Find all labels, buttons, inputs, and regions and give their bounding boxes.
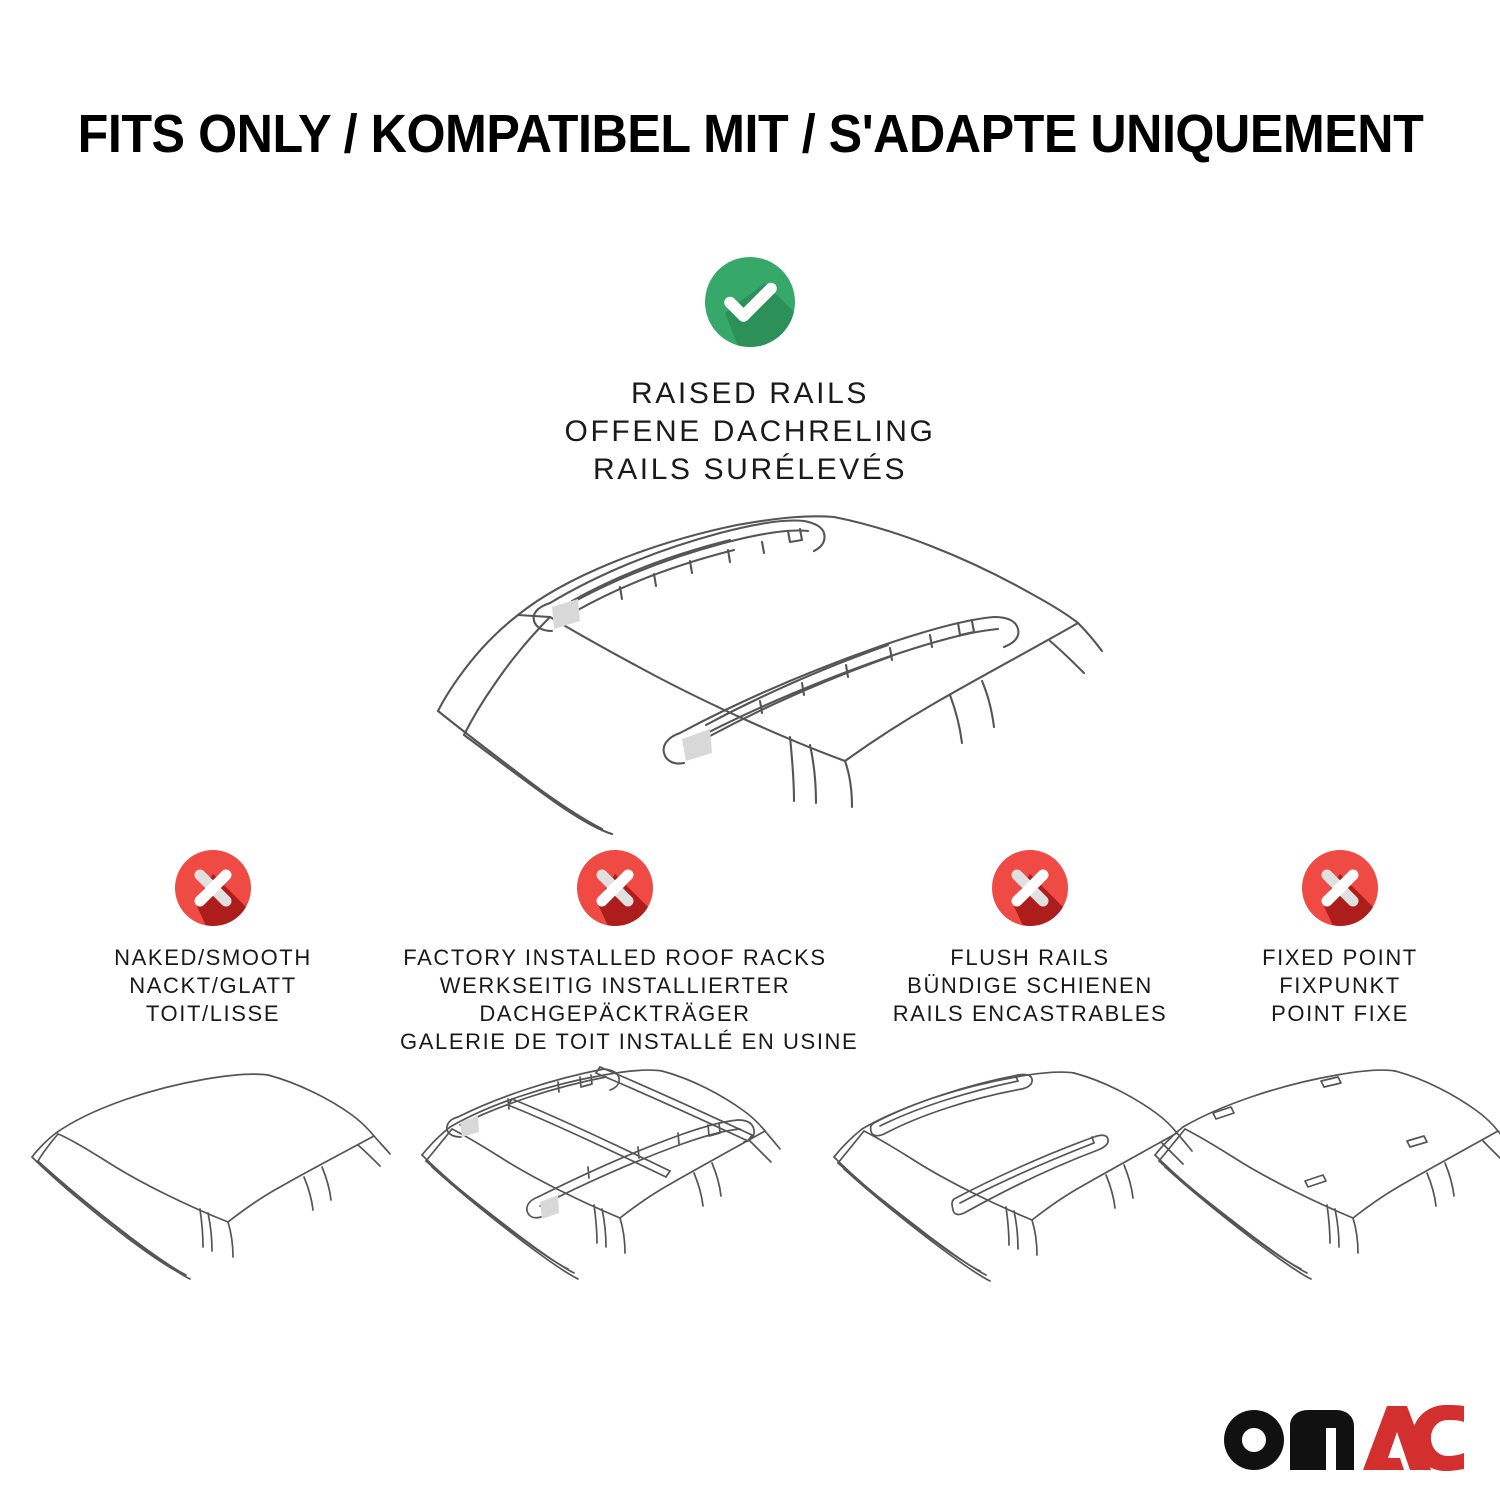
compatible-labels: RAISED RAILS OFFENE DACHRELING RAILS SUR… xyxy=(0,375,1500,489)
incompatible-label-en: FACTORY INSTALLED ROOF RACKS xyxy=(400,944,830,972)
car-roof-raised-rails-illustration xyxy=(390,495,1110,835)
compatible-label-fr: RAILS SURÉLEVÉS xyxy=(0,451,1500,489)
incompatible-label-fr: POINT FIXE xyxy=(1200,1000,1480,1028)
incompatible-section: NAKED/SMOOTH NACKT/GLATT TOIT/LISSE FACT… xyxy=(0,848,1500,1068)
car-roof-factory-roof-rack-illustration xyxy=(408,1055,788,1285)
omac-logo-letter-m xyxy=(1290,1410,1354,1470)
omac-logo xyxy=(1218,1404,1464,1476)
compatible-label-de: OFFENE DACHRELING xyxy=(0,413,1500,451)
car-roof-naked-smooth-illustration xyxy=(30,1055,400,1285)
omac-logo-letter-o xyxy=(1224,1410,1284,1470)
incompatible-label-de: FIXPUNKT xyxy=(1200,972,1480,1000)
compatible-section: RAISED RAILS OFFENE DACHRELING RAILS SUR… xyxy=(0,255,1500,489)
cross-circle-icon xyxy=(173,848,253,928)
incompatible-labels: FACTORY INSTALLED ROOF RACKS WERKSEITIG … xyxy=(400,944,830,1056)
incompatible-label-en: FLUSH RAILS xyxy=(855,944,1205,972)
cross-circle-icon xyxy=(990,848,1070,928)
page-title: FITS ONLY / KOMPATIBEL MIT / S'ADAPTE UN… xyxy=(0,104,1500,164)
cross-circle-icon xyxy=(1300,848,1380,928)
car-roof-fixed-point-illustration xyxy=(1145,1055,1500,1285)
incompatible-item-naked-smooth: NAKED/SMOOTH NACKT/GLATT TOIT/LISSE xyxy=(38,848,388,1028)
check-circle-icon xyxy=(703,255,797,349)
incompatible-label-fr: TOIT/LISSE xyxy=(38,1000,388,1028)
incompatible-labels: NAKED/SMOOTH NACKT/GLATT TOIT/LISSE xyxy=(38,944,388,1028)
incompatible-labels: FIXED POINT FIXPUNKT POINT FIXE xyxy=(1200,944,1480,1028)
compatible-label-en: RAISED RAILS xyxy=(0,375,1500,413)
car-roof-flush-rails-illustration xyxy=(820,1055,1200,1285)
incompatible-label-en: NAKED/SMOOTH xyxy=(38,944,388,972)
incompatible-label-de-1: WERKSEITIG INSTALLIERTER xyxy=(400,972,830,1000)
incompatible-label-de-2: DACHGEPÄCKTRÄGER xyxy=(400,1000,830,1028)
incompatible-label-de: BÜNDIGE SCHIENEN xyxy=(855,972,1205,1000)
incompatible-labels: FLUSH RAILS BÜNDIGE SCHIENEN RAILS ENCAS… xyxy=(855,944,1205,1028)
incompatible-label-de: NACKT/GLATT xyxy=(38,972,388,1000)
incompatible-item-factory-roof-rack: FACTORY INSTALLED ROOF RACKS WERKSEITIG … xyxy=(400,848,830,1056)
page-title-text: FITS ONLY / KOMPATIBEL MIT / S'ADAPTE UN… xyxy=(77,104,1423,164)
incompatible-label-en: FIXED POINT xyxy=(1200,944,1480,972)
incompatible-label-fr: RAILS ENCASTRABLES xyxy=(855,1000,1205,1028)
incompatible-label-fr: GALERIE DE TOIT INSTALLÉ EN USINE xyxy=(400,1028,830,1056)
incompatible-item-flush-rails: FLUSH RAILS BÜNDIGE SCHIENEN RAILS ENCAS… xyxy=(855,848,1205,1028)
incompatible-item-fixed-point: FIXED POINT FIXPUNKT POINT FIXE xyxy=(1200,848,1480,1028)
cross-circle-icon xyxy=(575,848,655,928)
